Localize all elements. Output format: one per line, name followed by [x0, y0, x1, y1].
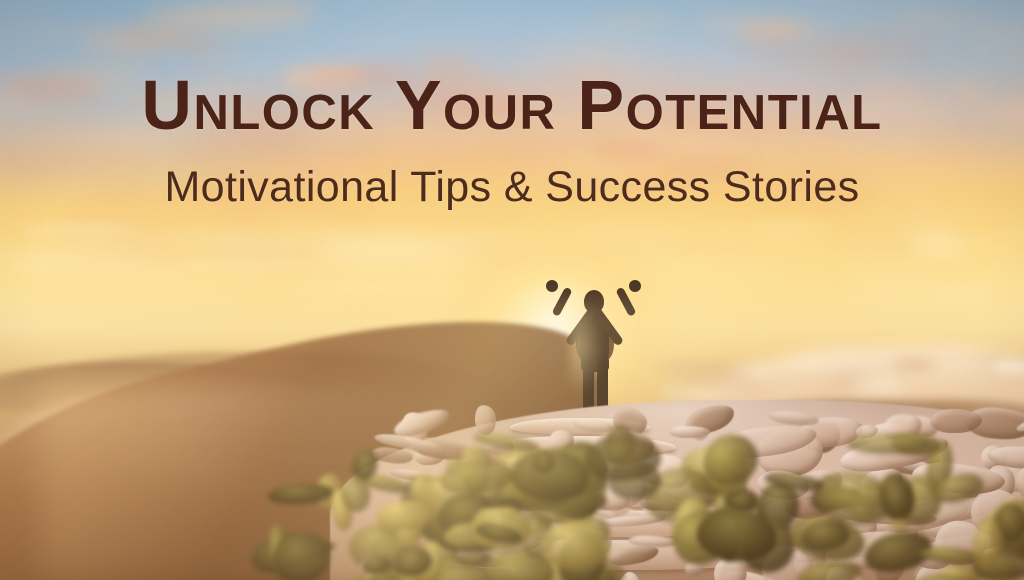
page-subtitle: Motivational Tips & Success Stories [164, 166, 859, 209]
sun-ray-sweep [0, 300, 1024, 580]
hero-banner: Unlock Your Potential Motivational Tips … [0, 0, 1024, 580]
hiker-hand-right [629, 280, 641, 292]
hiker-hand-left [546, 280, 558, 292]
banner-text-block: Unlock Your Potential Motivational Tips … [0, 0, 1024, 260]
page-title: Unlock Your Potential [141, 70, 882, 140]
